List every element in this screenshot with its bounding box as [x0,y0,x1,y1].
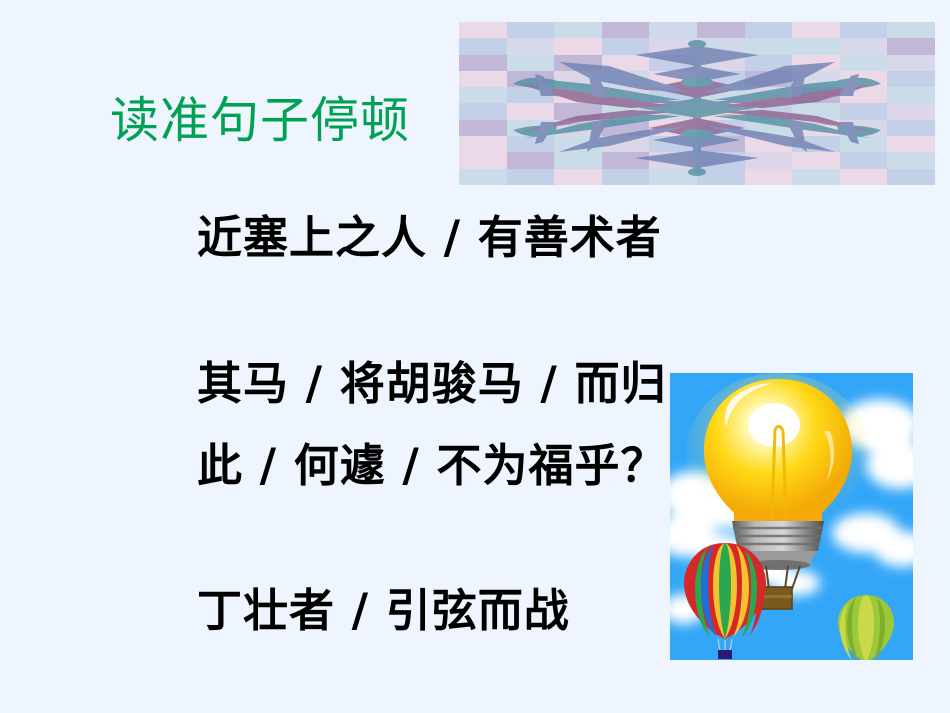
bulb-glass [704,379,852,523]
lightbulb-balloon-picture [670,373,913,660]
snowflake-decorative-banner [459,22,935,185]
page-title: 读准句子停顿 [110,93,410,149]
lightbulb-balloon-illustration [670,373,913,660]
sentence-line-1: 近塞上之人 / 有善术者 [197,212,662,264]
sentence-line-2: 其马 / 将胡骏马 / 而归 [197,358,667,410]
slide-canvas: 读准句子停顿 近塞上之人 / 有善术者 其马 / 将胡骏马 / 而归 此 / 何… [0,0,950,713]
snowflake-graphic [459,22,935,185]
sentence-line-3: 此 / 何遽 / 不为福乎？ [197,440,667,492]
sentence-line-4: 丁壮者 / 引弦而战 [197,585,570,637]
